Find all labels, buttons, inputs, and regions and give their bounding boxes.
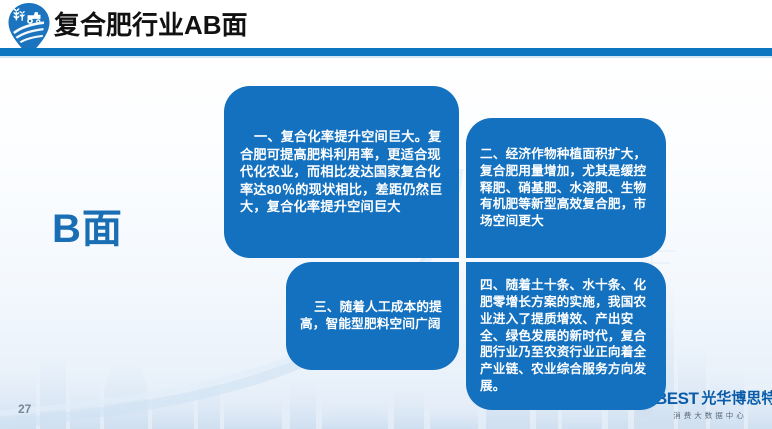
content-box-one-text: 一、复合化率提升空间巨大。复合肥可提高肥料利用率，更适合现代化农业，而相比发达国… [240, 128, 447, 216]
company-logo: BEST 光华博思特 消费大数据中心 [652, 389, 768, 423]
content-box-three-text: 三、随着人工成本的提高，智能型肥料空间广阔 [300, 299, 449, 332]
company-logo-tagline: 消费大数据中心 [652, 410, 768, 421]
section-label-b-side: B面 [52, 196, 123, 254]
header-divider-shadow [0, 56, 772, 58]
page-number: 27 [18, 402, 31, 416]
content-box-two[interactable]: 二、经济作物种植面积扩大，复合肥用量增加，尤其是缓控释肥、硝基肥、水溶肥、生物有… [466, 118, 666, 258]
content-box-four-text: 四、随着土十条、水十条、化肥零增长方案的实施，我国农业进入了提质增效、产出安全、… [480, 277, 656, 394]
page-title: 复合肥行业AB面 [54, 6, 248, 44]
company-logo-name: 光华博思特 [701, 389, 772, 409]
content-box-three[interactable]: 三、随着人工成本的提高，智能型肥料空间广阔 [286, 262, 459, 370]
header-divider-bar [0, 48, 772, 56]
content-box-two-text: 二、经济作物种植面积扩大，复合肥用量增加，尤其是缓控释肥、硝基肥、水溶肥、生物有… [480, 146, 656, 230]
slide-canvas: 复合肥行业AB面 B面 一、复合化率提升空间巨大。复合肥可提高肥料利用率，更适合… [0, 0, 772, 429]
content-box-four[interactable]: 四、随着土十条、水十条、化肥零增长方案的实施，我国农业进入了提质增效、产出安全、… [466, 262, 666, 410]
content-box-one[interactable]: 一、复合化率提升空间巨大。复合肥可提高肥料利用率，更适合现代化农业，而相比发达国… [224, 86, 459, 258]
